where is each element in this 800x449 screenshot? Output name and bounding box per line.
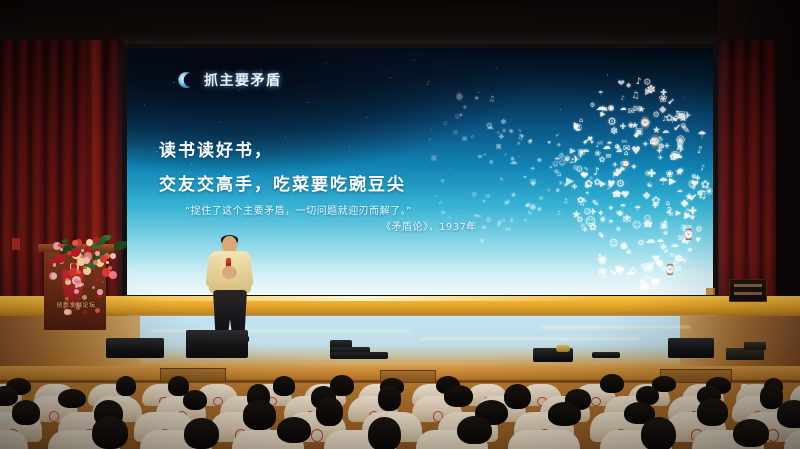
cloud-icon: ✔ (483, 154, 487, 159)
cloud-icon: ✚ (479, 238, 484, 244)
cloud-icon: ♥ (621, 191, 630, 201)
flower-strand (92, 286, 95, 289)
cloud-icon: ❤ (617, 80, 624, 89)
cloud-icon: ⌂ (624, 149, 628, 156)
cloud-icon: ⚓ (601, 256, 606, 262)
cloud-icon: ☺ (443, 123, 448, 128)
cloud-icon: ⚑ (608, 220, 614, 226)
cloud-icon: ✦ (585, 192, 590, 198)
audience-member-head (12, 400, 40, 424)
cloud-icon: ⚙ (478, 216, 482, 220)
cloud-icon: ✿ (638, 239, 644, 247)
cloud-icon: ✎ (527, 212, 532, 218)
stage-equipment-box (744, 342, 766, 350)
cloud-icon: ☂ (657, 238, 664, 246)
cloud-icon: ♥ (547, 141, 551, 145)
cloud-icon: ✉ (668, 212, 673, 218)
cloud-icon: ☺ (585, 217, 596, 228)
cloud-icon: ✿ (594, 179, 601, 188)
cloud-icon: ✎ (616, 146, 623, 154)
flower-bloom (93, 237, 99, 243)
cloud-icon: ⌂ (589, 177, 592, 182)
cloud-icon: ❀ (666, 170, 674, 179)
cloud-icon: ⚙ (590, 102, 596, 108)
cloud-icon: ♪ (697, 146, 703, 155)
cloud-icon: ❤ (477, 155, 482, 161)
cloud-icon: ☀ (662, 220, 667, 226)
slide-line-2: 交友交高手，吃菜要吃豌豆尖 (159, 170, 406, 195)
cloud-icon: ✂ (622, 138, 628, 145)
cloud-icon: ☁ (670, 241, 679, 250)
cloud-icon: ⌂ (650, 136, 657, 146)
cloud-icon: ▣ (430, 154, 437, 161)
cloud-icon: ✉ (627, 107, 634, 115)
slide-line-1: 读书读好书， (159, 136, 406, 161)
cloud-icon: ★ (685, 193, 694, 203)
cloud-icon: ✉ (539, 197, 543, 202)
cloud-icon: ✈ (448, 216, 452, 221)
cloud-icon: ⌚ (455, 93, 464, 100)
cloud-icon: ✦ (630, 163, 638, 172)
presenter-hands (222, 266, 237, 279)
cloud-icon: ✔ (466, 222, 472, 230)
auditorium-photo: 抓主要矛盾 读书读好书， 交友交高手，吃菜要吃豌豆尖 “捉住了这个主要矛盾，一切… (0, 0, 800, 449)
audience-member-head (504, 384, 531, 409)
cloud-icon: ♪ (557, 211, 561, 217)
audience-member-head (548, 402, 581, 425)
cloud-icon: ◆ (634, 132, 639, 138)
cloud-icon: ▶ (442, 210, 447, 216)
cloud-icon: ❀ (626, 249, 632, 256)
cloud-icon: ▶ (645, 88, 652, 97)
slide-title: 抓主要矛盾 (175, 70, 282, 90)
cloud-icon: ☁ (645, 235, 656, 246)
audience-member-head (600, 374, 624, 393)
cloud-icon: ◆ (441, 179, 445, 184)
cloud-icon: ✿ (577, 197, 584, 206)
cloud-icon: ★ (686, 246, 693, 253)
flower-strand (97, 294, 101, 298)
cloud-icon: ✉ (606, 153, 612, 160)
flower-strand (97, 289, 102, 294)
slide-title-text: 抓主要矛盾 (204, 70, 282, 90)
cloud-icon: ♪ (504, 154, 507, 158)
cloud-icon: ♪ (636, 78, 642, 87)
stage-monitor-speaker (186, 330, 248, 358)
cloud-icon: ✦ (599, 233, 605, 240)
cloud-icon: ✈ (556, 143, 561, 149)
cloud-icon: ☁ (602, 143, 611, 152)
slide-body-lines: 读书读好书， 交友交高手，吃菜要吃豌豆尖 (159, 136, 406, 204)
flower-bloom (81, 249, 84, 252)
cloud-icon: ✈ (638, 284, 647, 294)
audience-member-head (277, 417, 312, 444)
cloud-icon: ❀ (616, 227, 621, 233)
cloud-icon: ◆ (626, 82, 631, 89)
cloud-icon: ✎ (500, 178, 504, 183)
flower-bloom (108, 266, 112, 270)
cloud-icon: ✽ (501, 119, 507, 126)
floor-light-streak (420, 338, 640, 340)
audience-member-head (457, 416, 492, 445)
cloud-icon: ☁ (528, 139, 532, 143)
cloud-icon: ☂ (530, 168, 535, 174)
cloud-icon: ✽ (610, 127, 618, 136)
audience-member-head (777, 400, 800, 428)
cloud-icon: ◉ (510, 157, 515, 162)
cloud-icon: ▣ (643, 262, 653, 273)
cloud-icon: ▶ (570, 147, 576, 155)
cloud-icon: ✽ (537, 159, 542, 164)
cloud-icon: ◆ (643, 191, 651, 201)
cloud-icon: ❀ (659, 94, 668, 105)
cloud-icon: ★ (676, 137, 685, 147)
wall-sign-line (734, 292, 762, 295)
cloud-icon: ♪ (593, 167, 600, 178)
flower-strand (74, 289, 79, 294)
cloud-icon: ✔ (673, 124, 681, 134)
cloud-icon: ♫ (489, 95, 495, 102)
cloud-icon: ♪ (426, 80, 430, 86)
cloud-icon: ▣ (496, 144, 502, 150)
cloud-icon: ✽ (658, 143, 665, 151)
cloud-icon: ☎ (643, 221, 653, 229)
cloud-icon: ☂ (625, 271, 635, 282)
cloud-icon: ♥ (520, 136, 524, 140)
cloud-icon: ❀ (537, 208, 542, 214)
cloud-icon: ★ (510, 192, 516, 199)
cloud-icon: ☁ (676, 187, 683, 194)
flower-bloom (106, 261, 109, 264)
cloud-icon: ★ (462, 106, 467, 112)
cloud-icon: ✂ (505, 226, 512, 234)
audience-member-head (697, 398, 729, 426)
cloud-icon: ☂ (620, 203, 627, 210)
cloud-icon: ☂ (523, 177, 527, 182)
cloud-icon: ◉ (608, 104, 615, 112)
cloud-icon: ⚑ (482, 201, 486, 205)
cloud-icon: ⌂ (557, 171, 561, 178)
audience-member-head (368, 417, 401, 449)
cloud-icon: ✚ (695, 176, 700, 182)
cloud-icon: ★ (474, 96, 479, 102)
cloud-icon: ♥ (695, 238, 701, 244)
cloud-icon: ◎ (573, 166, 578, 172)
stage-cable (330, 352, 388, 359)
cloud-icon: ✈ (683, 111, 692, 122)
cloud-icon: ✽ (509, 130, 513, 135)
cloud-icon: ✈ (428, 138, 431, 142)
cloud-icon: ☁ (569, 160, 573, 164)
cloud-icon: ✚ (620, 123, 627, 131)
cloud-icon: ✎ (592, 200, 599, 209)
cloud-icon: ✈ (657, 154, 663, 161)
cloud-icon: ❀ (556, 189, 560, 194)
seat-logo (311, 429, 323, 441)
cloud-icon: ☀ (704, 187, 713, 198)
cloud-icon: ☺ (454, 116, 459, 121)
cloud-icon: ▶ (676, 209, 681, 216)
cloud-icon: ◆ (590, 141, 593, 145)
audience-member-head (378, 385, 401, 410)
cloud-icon: ◍ (471, 191, 477, 197)
stage-apron-highlight (120, 296, 600, 301)
cloud-icon: ▶ (600, 180, 606, 188)
cloud-icon: ◎ (452, 129, 458, 135)
cloud-icon: ☂ (634, 205, 641, 213)
cloud-icon: ✿ (584, 183, 589, 189)
cloud-icon: ▶ (583, 172, 587, 178)
icon-cloud-graphic: ▶✉♥☁✿★✈☎✔⚙⌂☂♪☀◉✂✦⚑✚☺◆✎☯⌚✽⚓☁✉▣◍✿✔♫✈⚡☼✉◎❀✚… (417, 58, 713, 295)
stage-cable (592, 352, 620, 358)
cloud-icon: ◆ (459, 114, 463, 119)
cloud-icon: ★ (677, 167, 684, 175)
cloud-icon: ☁ (620, 105, 627, 112)
cloud-icon: ★ (638, 106, 646, 115)
flower-bloom (72, 240, 78, 246)
cloud-icon: ✦ (607, 205, 614, 214)
cloud-icon: ♥ (607, 180, 615, 189)
flower-bloom (71, 248, 80, 257)
cloud-icon: ✔ (525, 202, 531, 209)
cloud-icon: ✈ (676, 146, 684, 156)
cloud-icon: ✉ (623, 215, 632, 225)
flower-bloom (95, 251, 100, 256)
audience-member-head (116, 376, 136, 395)
flower-strand (65, 278, 68, 281)
cloud-icon: ⚙ (695, 225, 703, 233)
audience-member-head (92, 416, 129, 449)
podium-label: 创新发展论坛 (48, 300, 104, 309)
cloud-icon: ⌚ (639, 119, 651, 129)
cloud-icon: ♥ (615, 169, 623, 178)
cloud-icon: ☀ (558, 182, 563, 188)
cloud-icon: ✔ (555, 135, 559, 140)
cloud-icon: ▶ (564, 184, 567, 188)
cloud-icon: ✉ (530, 178, 536, 185)
audience-member-head (316, 397, 343, 426)
cloud-icon: ✦ (582, 139, 588, 146)
auditorium-seat (508, 430, 580, 449)
flower-bloom (78, 271, 81, 274)
cloud-icon: ✿ (502, 130, 506, 135)
cloud-icon: ◉ (617, 265, 624, 273)
cloud-icon: ⚓ (509, 218, 515, 224)
decor-banner (12, 238, 20, 250)
cloud-icon: ✚ (664, 143, 669, 149)
cloud-icon: ☯ (497, 221, 502, 227)
audience-member-head (733, 419, 769, 447)
audience-member-head (184, 418, 219, 449)
seat-logo (591, 397, 600, 406)
flower-bloom (110, 253, 116, 259)
cloud-icon: ♫ (631, 92, 639, 101)
cloud-icon: ✔ (438, 200, 444, 207)
cloud-icon: ◎ (645, 170, 651, 177)
audience-member-head (273, 376, 295, 395)
cloud-icon: ☯ (647, 182, 653, 189)
cloud-icon: ♪ (596, 142, 600, 149)
cloud-icon: ▶ (574, 122, 581, 131)
flower-strand (82, 295, 87, 300)
cloud-icon: ⚑ (671, 117, 678, 125)
flower-strand (96, 278, 99, 281)
flower-bloom (51, 273, 57, 279)
cloud-icon: ☺ (632, 222, 641, 231)
audience-seating (0, 366, 800, 449)
stage-gear-gold (556, 345, 570, 352)
flower-bloom (56, 254, 64, 262)
cloud-icon: ♫ (684, 208, 691, 215)
wall-sign (729, 279, 767, 302)
cloud-icon: ✚ (489, 161, 494, 167)
cloud-icon: ⌂ (471, 135, 474, 140)
cloud-icon: ✎ (518, 129, 521, 133)
wall-sign-line (734, 284, 762, 287)
cloud-icon: ☁ (582, 146, 590, 154)
cloud-icon: ☼ (547, 190, 551, 195)
cloud-icon: ⌚ (622, 161, 631, 168)
cloud-icon: ☺ (609, 240, 618, 249)
presenter (200, 236, 258, 344)
flower-strand (66, 309, 72, 315)
flower-bloom (109, 271, 117, 279)
slide-quote-text: “捉住了这个主要矛盾，一切问题就迎刃而解了。” (185, 206, 412, 217)
stage-monitor-speaker (668, 338, 714, 358)
cloud-icon: ♫ (563, 199, 569, 205)
flower-strand (83, 310, 87, 314)
cloud-icon: ✽ (674, 255, 683, 265)
cloud-icon: ✦ (642, 141, 649, 150)
audience-member-head (444, 385, 473, 407)
cloud-icon: ❤ (482, 226, 487, 232)
audience-member-head (58, 389, 86, 408)
audience-member-head (183, 390, 207, 410)
flower-strand (102, 281, 105, 284)
cloud-icon: ✚ (571, 183, 577, 190)
cloud-icon: ☺ (558, 160, 565, 167)
flower-strand (75, 285, 78, 288)
cloud-icon: ☎ (651, 278, 661, 286)
cloud-icon: ✿ (669, 153, 677, 162)
cloud-icon: ♪ (621, 96, 625, 102)
cloud-icon: ☀ (496, 131, 500, 135)
flower-bloom (86, 239, 93, 246)
crescent-moon-icon (175, 70, 195, 90)
cloud-icon: ⚙ (656, 260, 664, 269)
flower-leaf (62, 239, 68, 243)
cloud-icon: ✦ (434, 196, 438, 201)
cloud-icon: ◉ (628, 122, 634, 129)
audience-member-head (641, 417, 675, 449)
stage-monitor-speaker (106, 338, 164, 358)
cloud-icon: ♥ (631, 146, 641, 157)
cloud-icon: ✈ (612, 161, 618, 168)
cloud-icon: ⚙ (486, 216, 492, 223)
cloud-icon: ◉ (600, 216, 606, 223)
cloud-icon: ✎ (681, 125, 690, 135)
audience-member-head (243, 400, 276, 429)
cloud-icon: ✿ (486, 122, 492, 130)
wall-plate (706, 288, 715, 295)
cloud-icon: ☎ (597, 268, 606, 275)
cloud-icon: ✿ (652, 196, 661, 207)
cloud-icon: ❀ (506, 201, 510, 206)
cloud-icon: ❀ (595, 150, 602, 158)
cloud-icon: ☂ (598, 91, 603, 97)
flower-bloom (53, 263, 57, 267)
cloud-icon: ✈ (524, 220, 528, 225)
cloud-icon: ⚡ (516, 141, 521, 148)
cloud-icon: ♪ (700, 164, 705, 171)
cloud-icon: ▣ (462, 137, 467, 143)
cloud-icon: ✔ (667, 98, 675, 107)
cloud-icon: ✦ (549, 166, 553, 171)
flower-strand (67, 289, 73, 295)
cloud-icon: ☂ (697, 131, 706, 141)
cloud-icon: ✎ (610, 270, 616, 277)
cloud-icon: ☼ (679, 224, 687, 233)
floor-light-streak (540, 326, 690, 328)
seat-logo (49, 411, 60, 422)
